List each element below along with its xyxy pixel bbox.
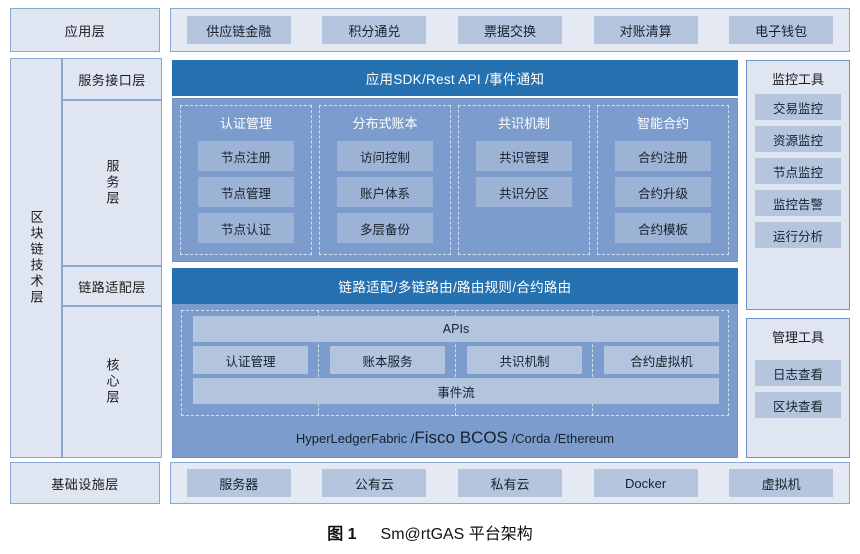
service-item[interactable]: 账户体系 <box>337 177 433 207</box>
monitoring-tool-item[interactable]: 监控告警 <box>755 190 841 216</box>
management-tool-item[interactable]: 日志查看 <box>755 360 841 386</box>
management-tools-panel: 管理工具 日志查看区块查看 <box>746 318 850 458</box>
architecture-diagram: 应用层 供应链金融积分通兑票据交换对账清算电子钱包 区块链技术层 服务接口层 服… <box>0 0 860 554</box>
infrastructure-item[interactable]: 虚拟机 <box>729 469 833 497</box>
monitoring-tool-item[interactable]: 资源监控 <box>755 126 841 152</box>
core-event-band: 事件流 <box>193 378 719 404</box>
sublayer-label-service-text: 服务层 <box>103 159 122 207</box>
sublayer-label-service-interface-text: 服务接口层 <box>78 70 146 89</box>
application-item[interactable]: 积分通兑 <box>322 16 426 44</box>
core-vendor-band: HyperLedgerFabric /Fisco BCOS /Corda /Et… <box>174 420 736 456</box>
sublayer-label-link-adapter-text: 链路适配层 <box>78 277 146 296</box>
service-item[interactable]: 多层备份 <box>337 213 433 243</box>
figure-caption: 图 1 Sm@rtGAS 平台架构 <box>0 520 860 544</box>
figure-caption-number: 图 1 <box>327 526 356 543</box>
monitoring-tool-item[interactable]: 运行分析 <box>755 222 841 248</box>
infrastructure-layer-panel: 服务器公有云私有云Docker虚拟机 <box>170 462 850 504</box>
core-layer-panel: APIs 认证管理账本服务共识机制合约虚拟机 事件流 HyperLedgerFa… <box>172 304 738 458</box>
figure-caption-title: Sm@rtGAS 平台架构 <box>381 526 533 543</box>
application-item[interactable]: 供应链金融 <box>187 16 291 44</box>
layer-label-infrastructure: 基础设施层 <box>10 462 160 504</box>
service-column-title: 智能合约 <box>637 113 689 132</box>
core-module[interactable]: 认证管理 <box>193 346 308 374</box>
core-apis-band-text: APIs <box>443 322 469 336</box>
service-item[interactable]: 节点管理 <box>198 177 294 207</box>
infrastructure-item[interactable]: Docker <box>594 469 698 497</box>
service-column-title: 共识机制 <box>498 113 550 132</box>
service-item[interactable]: 共识分区 <box>476 177 572 207</box>
service-item[interactable]: 共识管理 <box>476 141 572 171</box>
management-tools-title: 管理工具 <box>772 327 824 346</box>
service-item[interactable]: 节点注册 <box>198 141 294 171</box>
service-column: 分布式账本访问控制账户体系多层备份 <box>319 105 451 255</box>
service-item[interactable]: 合约模板 <box>615 213 711 243</box>
service-item[interactable]: 节点认证 <box>198 213 294 243</box>
application-item[interactable]: 对账清算 <box>594 16 698 44</box>
management-tool-item[interactable]: 区块查看 <box>755 392 841 418</box>
core-vendor-name: /Corda /Ethereum <box>508 431 614 446</box>
link-adapter-band: 链路适配/多链路由/路由规则/合约路由 <box>172 268 738 304</box>
service-interface-band-text: 应用SDK/Rest API /事件通知 <box>366 68 545 88</box>
sublayer-label-service: 服务层 <box>62 100 162 266</box>
monitoring-tools-panel: 监控工具 交易监控资源监控节点监控监控告警运行分析 <box>746 60 850 310</box>
monitoring-tool-item[interactable]: 节点监控 <box>755 158 841 184</box>
application-item[interactable]: 票据交换 <box>458 16 562 44</box>
service-column-title: 认证管理 <box>220 113 272 132</box>
core-module[interactable]: 账本服务 <box>330 346 445 374</box>
layer-label-application-text: 应用层 <box>65 21 106 40</box>
infrastructure-item[interactable]: 服务器 <box>187 469 291 497</box>
layer-label-blockchain-tech: 区块链技术层 <box>10 58 62 458</box>
infrastructure-item[interactable]: 私有云 <box>458 469 562 497</box>
core-event-band-text: 事件流 <box>437 382 475 401</box>
core-module[interactable]: 共识机制 <box>467 346 582 374</box>
service-column: 认证管理节点注册节点管理节点认证 <box>180 105 312 255</box>
sublayer-label-core-text: 核心层 <box>103 358 122 406</box>
application-layer-panel: 供应链金融积分通兑票据交换对账清算电子钱包 <box>170 8 850 52</box>
service-item[interactable]: 合约注册 <box>615 141 711 171</box>
application-item[interactable]: 电子钱包 <box>729 16 833 44</box>
sublayer-label-link-adapter: 链路适配层 <box>62 266 162 306</box>
link-adapter-band-text: 链路适配/多链路由/路由规则/合约路由 <box>339 276 572 296</box>
core-apis-band: APIs <box>193 316 719 342</box>
service-item[interactable]: 访问控制 <box>337 141 433 171</box>
service-interface-band: 应用SDK/Rest API /事件通知 <box>172 60 738 96</box>
service-layer-panel: 认证管理节点注册节点管理节点认证分布式账本访问控制账户体系多层备份共识机制共识管… <box>172 98 738 262</box>
service-column: 共识机制共识管理共识分区 <box>458 105 590 255</box>
service-item[interactable]: 合约升级 <box>615 177 711 207</box>
sublayer-label-core: 核心层 <box>62 306 162 458</box>
layer-label-infrastructure-text: 基础设施层 <box>51 474 119 493</box>
core-vendor-name: HyperLedgerFabric / <box>296 431 415 446</box>
monitoring-tool-item[interactable]: 交易监控 <box>755 94 841 120</box>
monitoring-tools-title: 监控工具 <box>772 69 824 88</box>
layer-label-blockchain-tech-text: 区块链技术层 <box>27 210 46 306</box>
core-vendor-name: Fisco BCOS <box>414 428 508 447</box>
service-column-title: 分布式账本 <box>352 113 417 132</box>
sublayer-label-service-interface: 服务接口层 <box>62 58 162 100</box>
core-module[interactable]: 合约虚拟机 <box>604 346 719 374</box>
service-column: 智能合约合约注册合约升级合约模板 <box>597 105 729 255</box>
layer-label-application: 应用层 <box>10 8 160 52</box>
infrastructure-item[interactable]: 公有云 <box>322 469 426 497</box>
